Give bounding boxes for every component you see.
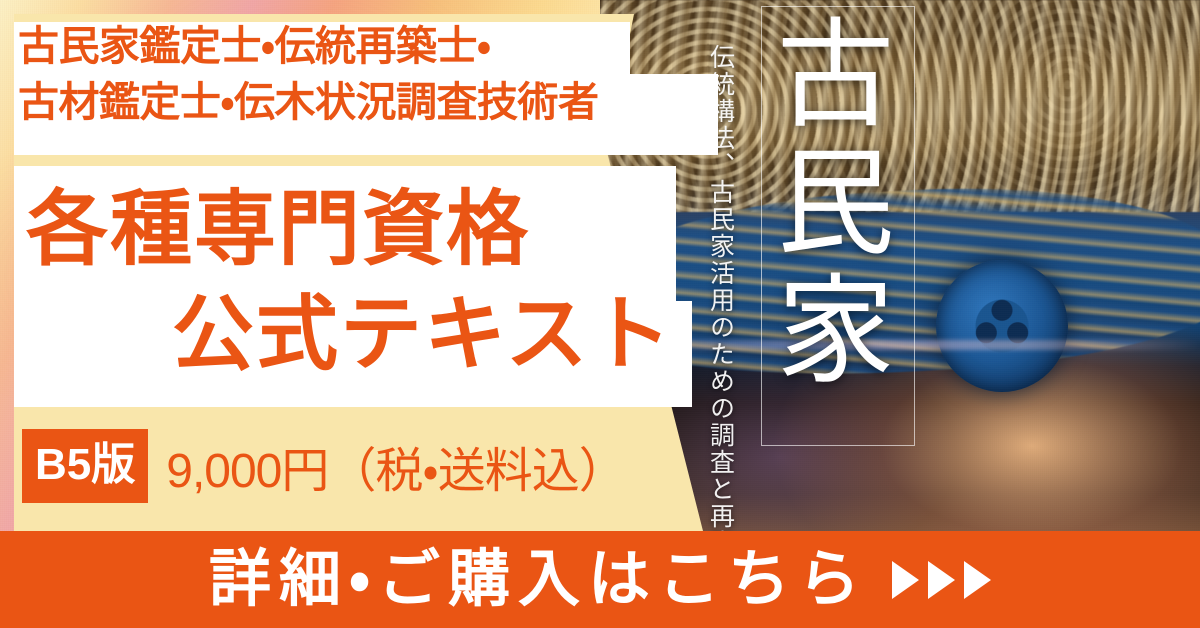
main-title-line-2: 公式テキスト xyxy=(0,283,700,388)
price-row: B5版 9,000円（税・送料込） xyxy=(22,429,626,503)
headline-line-2: 古材鑑定士・伝木状況調査技術者 xyxy=(18,74,718,130)
main-title-line-1: 各種専門資格 xyxy=(0,178,700,283)
cover-vertical-title: 古民家 xyxy=(786,12,894,432)
play-arrow-icon xyxy=(892,561,919,599)
cta-label: 詳細・ご購入はこちら xyxy=(209,549,868,611)
headline-line-1: 古民家鑑定士・伝統再築士・ xyxy=(18,18,718,74)
qualification-headline: 古民家鑑定士・伝統再築士・ 古材鑑定士・伝木状況調査技術者 xyxy=(18,18,718,130)
promo-banner: 伝統構法、古民家活用のための調査と再生の 古民家 古民家鑑定士・伝統再築士・ 古… xyxy=(0,0,1200,628)
main-title: 各種専門資格 公式テキスト xyxy=(0,178,700,388)
cta-button-bar[interactable]: 詳細・ご購入はこちら xyxy=(0,531,1200,628)
play-arrow-icon xyxy=(928,561,955,599)
format-badge: B5版 xyxy=(22,429,148,503)
price-amount: 9,000円（税・送料込） xyxy=(166,431,625,501)
cta-arrows xyxy=(892,561,991,599)
play-arrow-icon xyxy=(964,561,991,599)
